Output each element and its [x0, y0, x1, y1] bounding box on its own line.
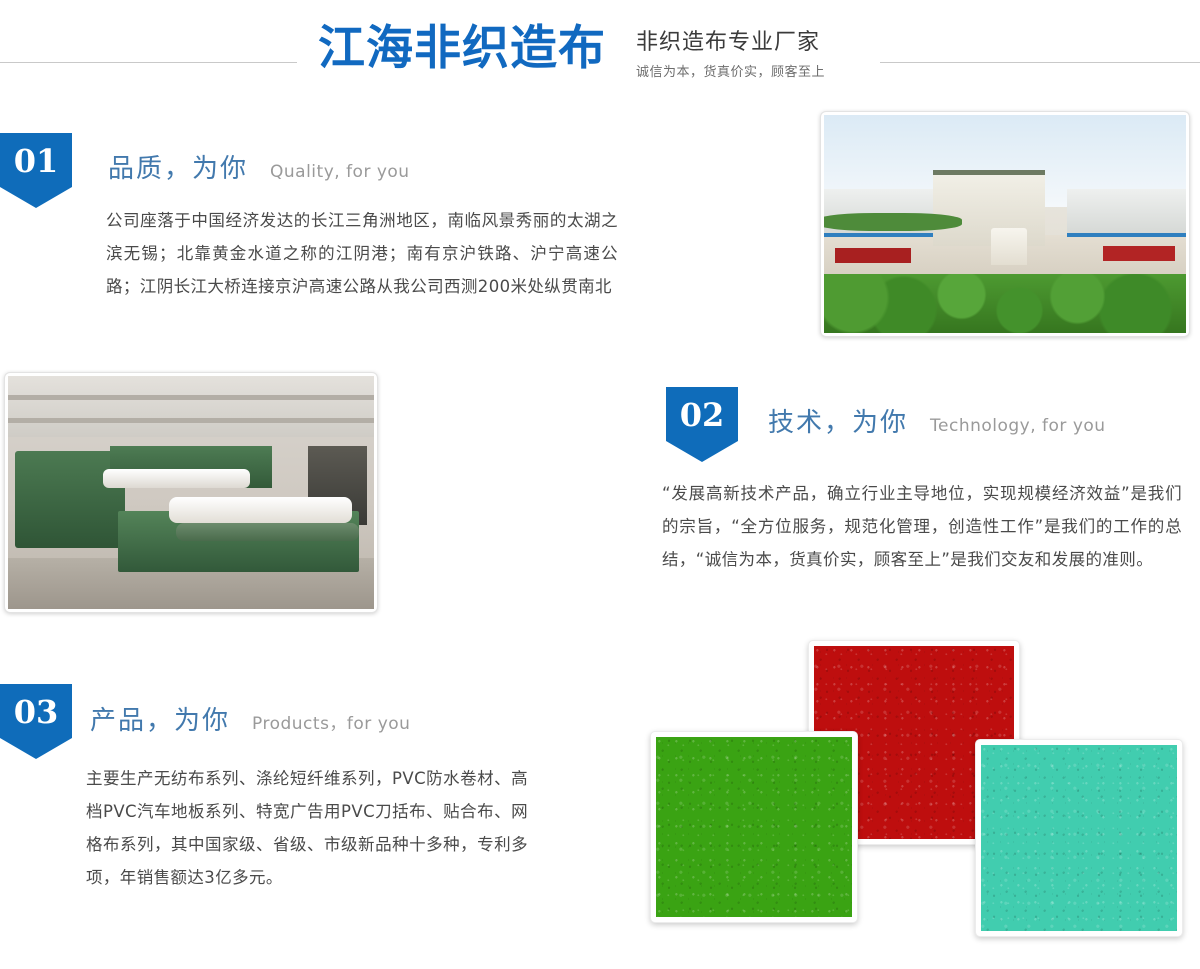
- section-body-03: 主要生产无纺布系列、涤纶短纤维系列，PVC防水卷材、高档PVC汽车地板系列、特宽…: [86, 762, 528, 894]
- section-title-en-02: Technology, for you: [930, 416, 1106, 436]
- section-title-cn-02: 技术，为你: [768, 402, 908, 439]
- section-title-en-01: Quality, for you: [270, 162, 410, 182]
- header-divider-left: [0, 62, 297, 63]
- section-badge-02: 02: [666, 387, 738, 462]
- brand-title: 江海非织造布: [318, 20, 606, 78]
- tagline-sub: 诚信为本，货真价实，顾客至上: [636, 63, 886, 83]
- green-leather-texture: [656, 737, 852, 917]
- section-heading-02: 技术，为你 Technology, for you: [768, 402, 1106, 439]
- turquoise-leather-swatch: [975, 739, 1183, 937]
- header-tagline: 非织造布专业厂家 诚信为本，货真价实，顾客至上: [636, 28, 886, 83]
- section-heading-01: 品质，为你 Quality, for you: [108, 148, 410, 185]
- turquoise-leather-texture: [981, 745, 1177, 931]
- promo-page: 江海非织造布 非织造布专业厂家 诚信为本，货真价实，顾客至上 01 品质，为你 …: [0, 0, 1200, 969]
- section-title-en-03: Products，for you: [252, 709, 410, 734]
- section-badge-01: 01: [0, 133, 72, 208]
- factory-aerial-photo: [820, 111, 1190, 337]
- page-header: 江海非织造布 非织造布专业厂家 诚信为本，货真价实，顾客至上: [0, 0, 1200, 100]
- production-machinery-photo: [4, 372, 378, 613]
- factory-aerial-image: [824, 115, 1186, 333]
- production-machinery-image: [8, 376, 374, 609]
- header-divider-right: [880, 62, 1200, 63]
- section-body-01: 公司座落于中国经济发达的长江三角洲地区，南临风景秀丽的太湖之滨无锡；北靠黄金水道…: [106, 204, 618, 303]
- section-heading-03: 产品，为你 Products，for you: [90, 700, 410, 737]
- section-title-cn-01: 品质，为你: [108, 148, 248, 185]
- tagline-main: 非织造布专业厂家: [636, 28, 886, 58]
- section-badge-03: 03: [0, 684, 72, 759]
- section-title-cn-03: 产品，为你: [90, 700, 230, 737]
- green-leather-swatch: [650, 731, 858, 923]
- section-body-02: “发展高新技术产品，确立行业主导地位，实现规模经济效益”是我们的宗旨，“全方位服…: [662, 477, 1182, 576]
